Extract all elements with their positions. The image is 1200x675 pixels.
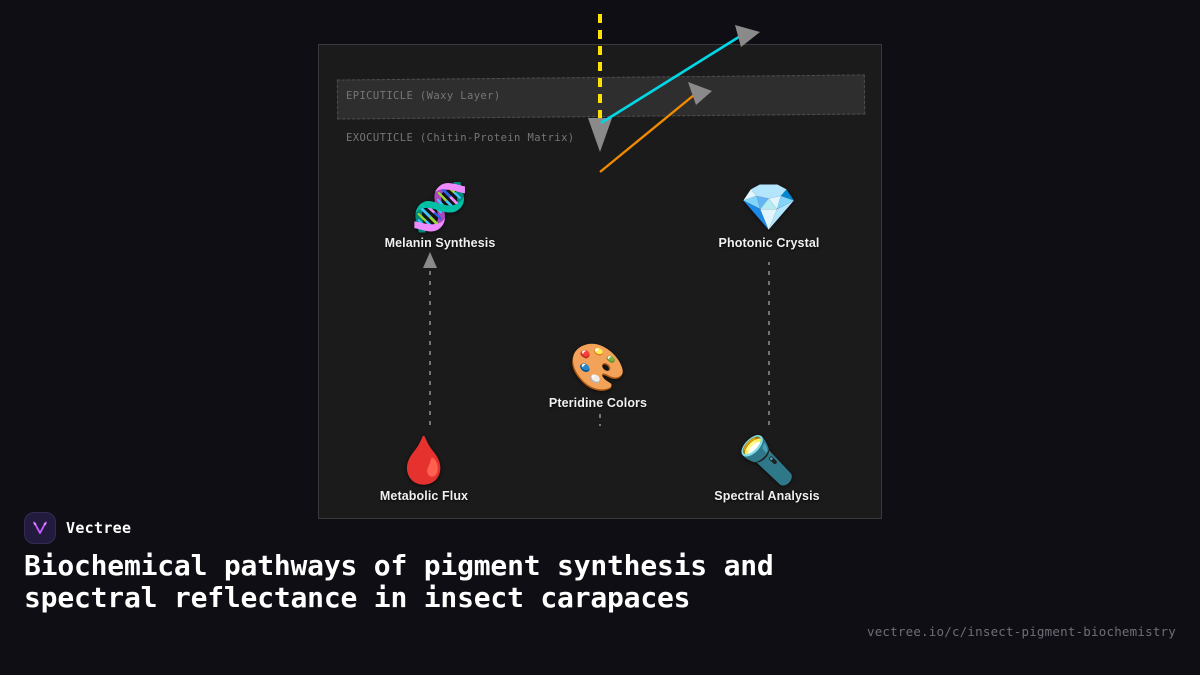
page-title: Biochemical pathways of pigment synthesi…	[24, 550, 854, 614]
brand-name: Vectree	[66, 519, 131, 537]
node-label: Spectral Analysis	[697, 489, 837, 503]
node-label: Pteridine Colors	[528, 396, 668, 410]
brand-lockup[interactable]: Vectree	[24, 512, 131, 544]
exocuticle-layer-label: EXOCUTICLE (Chitin-Protein Matrix)	[346, 132, 575, 144]
footer-url: vectree.io/c/insect-pigment-biochemistry	[867, 624, 1176, 639]
dna-icon: 🧬	[370, 180, 510, 234]
vectree-v-icon	[30, 518, 50, 538]
node-label: Photonic Crystal	[699, 236, 839, 250]
palette-icon: 🎨	[528, 340, 668, 394]
node-spectral-analysis[interactable]: 🔦 Spectral Analysis	[697, 433, 837, 503]
node-label: Metabolic Flux	[354, 489, 494, 503]
flashlight-icon: 🔦	[697, 433, 837, 487]
node-photonic-crystal[interactable]: 💎 Photonic Crystal	[699, 180, 839, 250]
diamond-icon: 💎	[699, 180, 839, 234]
node-melanin-synthesis[interactable]: 🧬 Melanin Synthesis	[370, 180, 510, 250]
epicuticle-layer-label: EPICUTICLE (Waxy Layer)	[346, 90, 501, 102]
vectree-logo-badge	[24, 512, 56, 544]
node-pteridine-colors[interactable]: 🎨 Pteridine Colors	[528, 340, 668, 410]
node-label: Melanin Synthesis	[370, 236, 510, 250]
node-metabolic-flux[interactable]: 🩸 Metabolic Flux	[354, 433, 494, 503]
blood-drop-icon: 🩸	[354, 433, 494, 487]
